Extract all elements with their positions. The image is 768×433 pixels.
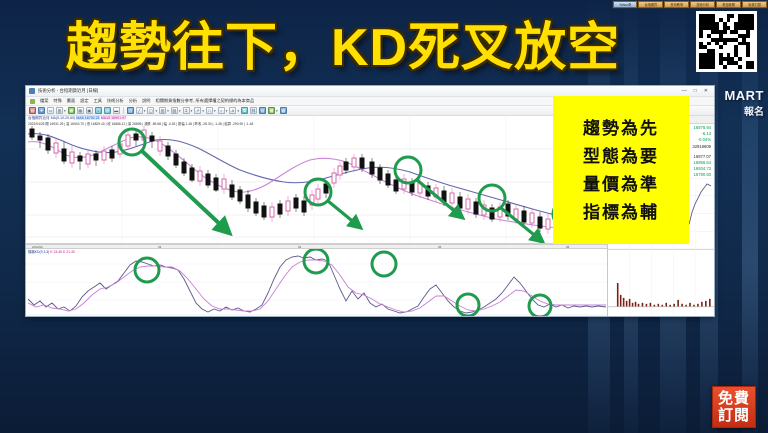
brand-label: MART bbox=[724, 88, 764, 103]
ma10-value: MA10 16901.97 bbox=[101, 116, 126, 120]
palette-icon[interactable]: ▩ bbox=[268, 107, 275, 114]
subscribe-label-line2: 訂閱 bbox=[718, 407, 750, 424]
chevron-down-icon[interactable]: ▾ bbox=[226, 109, 228, 113]
brand-sublabel: 報名 bbox=[744, 103, 764, 118]
taskbar-button[interactable]: Yahoo奇 bbox=[613, 1, 637, 8]
link-icon[interactable]: ⛓ bbox=[250, 107, 257, 114]
ma5-value: MA5 16792.21 bbox=[76, 116, 99, 120]
quote-value: 16790.50 bbox=[694, 172, 711, 177]
compare-icon[interactable]: ▬ bbox=[113, 107, 120, 114]
callout-line-4: 指標為輔 bbox=[583, 203, 659, 222]
taskbar-button[interactable]: 看盤軟體 bbox=[716, 1, 741, 8]
taskbar-button[interactable]: 台指期貨 bbox=[638, 1, 663, 8]
quote-value: 16878.94 bbox=[694, 125, 711, 130]
menu-app-icon bbox=[30, 99, 35, 104]
chevron-down-icon[interactable]: ▾ bbox=[144, 109, 146, 113]
ma-label: MA(5,10,20,60) bbox=[51, 116, 76, 120]
chevron-down-icon[interactable]: ▾ bbox=[64, 109, 66, 113]
print-icon[interactable]: ▥ bbox=[127, 107, 134, 114]
taskbar-button[interactable]: 當沖教學 bbox=[664, 1, 689, 8]
move-icon[interactable]: ✛ bbox=[38, 107, 45, 114]
headline-title: 趨勢往下，KD死叉放空 bbox=[66, 14, 666, 82]
window-title: 技術分析 - 台指期貨近月 [日線] bbox=[38, 88, 98, 94]
kd-chart-svg bbox=[26, 249, 607, 317]
app-icon bbox=[29, 88, 35, 94]
chevron-down-icon[interactable]: ▾ bbox=[202, 109, 204, 113]
subscribe-button[interactable]: 免費 訂閱 bbox=[712, 386, 756, 428]
window-icon[interactable]: ▣ bbox=[86, 107, 93, 114]
chevron-down-icon[interactable]: ▾ bbox=[214, 109, 216, 113]
ellipse-icon[interactable]: ○ bbox=[218, 107, 225, 114]
fib-icon[interactable]: ▨ bbox=[171, 107, 178, 114]
chevron-down-icon[interactable]: ▾ bbox=[191, 109, 193, 113]
menu-item-file[interactable]: 檔案 bbox=[40, 98, 48, 104]
menu-item-special[interactable]: 特殊 bbox=[53, 98, 61, 104]
taskbar-button[interactable]: 技術分析 bbox=[690, 1, 715, 8]
rect-icon[interactable]: □ bbox=[206, 107, 213, 114]
panel-icon[interactable]: ▤ bbox=[104, 107, 111, 114]
quote-value: 16856.64 bbox=[694, 160, 711, 165]
taskbar[interactable]: Yahoo奇 台指期貨 當沖教學 技術分析 看盤軟體 免費訂閱 bbox=[612, 0, 768, 9]
quote-value: -0.04% bbox=[698, 137, 711, 142]
shape-icon[interactable]: ▢ bbox=[147, 107, 154, 114]
menu-item-analysis[interactable]: 分析 bbox=[129, 98, 137, 104]
save-icon[interactable]: ▤ bbox=[259, 107, 266, 114]
kd-values: K 23.45 D 21.40 bbox=[50, 250, 75, 254]
callout-line-3: 量價為準 bbox=[583, 175, 659, 194]
video-frame: Yahoo奇 台指期貨 當沖教學 技術分析 看盤軟體 免費訂閱 趨勢往下，KD死… bbox=[0, 0, 768, 433]
chevron-down-icon[interactable]: ▾ bbox=[276, 109, 278, 113]
qr-code bbox=[696, 11, 757, 72]
line-tool-icon[interactable]: ╱ bbox=[136, 107, 143, 114]
kd-title: 隨機KD(9,3,3) bbox=[28, 250, 49, 254]
menu-item-technical[interactable]: 技術分析 bbox=[107, 98, 124, 104]
callout-line-2: 型態為要 bbox=[583, 147, 659, 166]
export-icon[interactable]: ▦ bbox=[280, 107, 287, 114]
quote-value: 16934.73 bbox=[694, 166, 711, 171]
chevron-down-icon[interactable]: ▾ bbox=[155, 109, 157, 113]
chart-type-icon[interactable]: ▥ bbox=[56, 107, 63, 114]
callout-line-1: 趨勢為先 bbox=[583, 119, 659, 138]
label-icon[interactable]: ⌶ bbox=[183, 107, 190, 114]
menu-note: 相關期貨指數分參考, 所有選擇權之契約標的為本商品 bbox=[156, 98, 255, 104]
window-controls[interactable]: — □ ✕ bbox=[682, 88, 711, 94]
close-icon[interactable]: ✕ bbox=[704, 88, 708, 94]
quote-value: 32918609 bbox=[692, 144, 711, 149]
grid-tool-icon[interactable]: ▥ bbox=[159, 107, 166, 114]
minimize-icon[interactable]: — bbox=[682, 88, 687, 94]
color-icon[interactable]: ▩ bbox=[68, 107, 75, 114]
copy-icon[interactable]: ⧉ bbox=[241, 107, 248, 114]
maximize-icon[interactable]: □ bbox=[694, 88, 697, 94]
layout-icon[interactable]: ▭ bbox=[47, 107, 54, 114]
chevron-down-icon[interactable]: ▾ bbox=[167, 109, 169, 113]
quote-value: 16877.07 bbox=[694, 154, 711, 159]
text-icon[interactable]: A bbox=[229, 107, 236, 114]
kd-header: 隨機KD(9,3,3) K 23.45 D 21.40 bbox=[28, 249, 75, 254]
capture-icon[interactable]: ▢ bbox=[95, 107, 102, 114]
taskbar-button[interactable]: 免費訂閱 bbox=[742, 1, 767, 8]
menu-item-tools[interactable]: 工具 bbox=[94, 98, 102, 104]
principles-callout: 趨勢為先 型態為要 量價為準 指標為輔 bbox=[553, 96, 689, 244]
chevron-down-icon[interactable]: ▾ bbox=[179, 109, 181, 113]
toolbar-divider bbox=[123, 107, 124, 114]
menu-item-screen[interactable]: 畫面 bbox=[67, 98, 75, 104]
menu-item-help[interactable]: 說明 bbox=[142, 98, 150, 104]
table-icon[interactable]: ▦ bbox=[77, 107, 84, 114]
arrow-icon[interactable]: ↗ bbox=[194, 107, 201, 114]
menu-item-settings[interactable]: 設定 bbox=[80, 98, 88, 104]
price-chart-pane[interactable]: 台指期貨近月 MA(5,10,20,60) MA5 16792.21 MA10 … bbox=[26, 116, 607, 244]
price-chart-svg bbox=[26, 116, 607, 244]
kd-indicator-pane[interactable]: 隨機KD(9,3,3) K 23.45 D 21.40 bbox=[26, 249, 607, 317]
subscribe-label-line1: 免費 bbox=[718, 390, 750, 407]
grid-icon[interactable]: ▤ bbox=[29, 107, 36, 114]
chevron-down-icon[interactable]: ▾ bbox=[237, 109, 239, 113]
quote-value: -6.13 bbox=[701, 131, 711, 136]
price-series-name: 台指期貨近月 bbox=[28, 116, 50, 120]
price-detail-row: 2022/04/25 開 16931.29 | 高 16943.70 | 低 1… bbox=[28, 121, 253, 126]
